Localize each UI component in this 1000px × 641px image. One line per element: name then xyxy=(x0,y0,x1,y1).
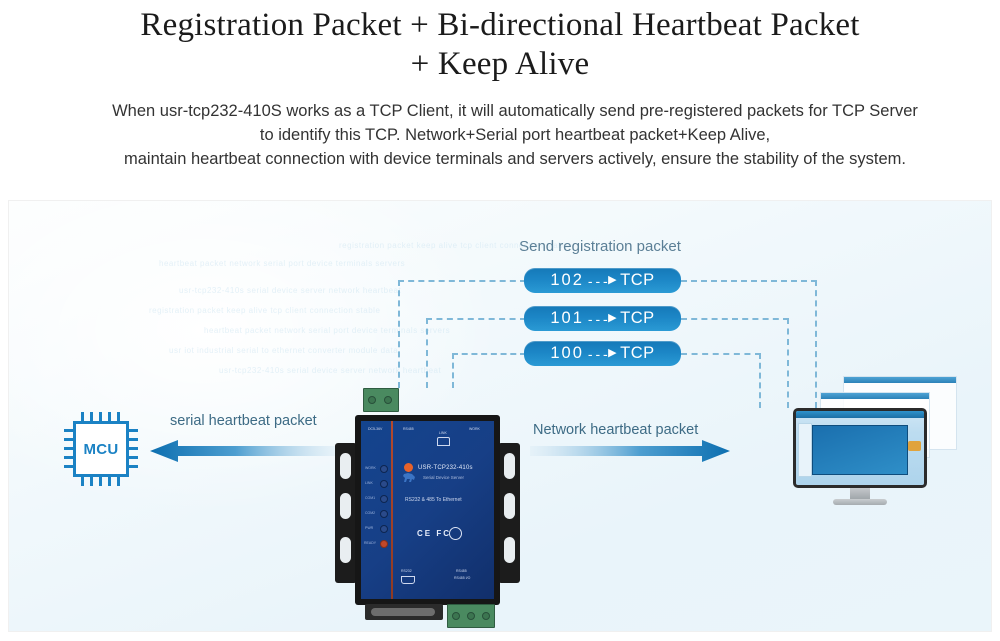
led-label: PWR xyxy=(365,526,373,530)
device-port-label-rs485io: RS485 I/O xyxy=(454,576,470,580)
app-titlebar xyxy=(796,411,924,418)
rs485-terminal-block-bottom xyxy=(447,604,495,628)
packet-id: 100 xyxy=(550,344,584,363)
device-top-label-power: DC5-36V xyxy=(368,427,382,431)
packet-dashes: - - - xyxy=(588,346,607,362)
network-heartbeat-arrow-icon xyxy=(530,440,730,462)
usb-port-icon xyxy=(401,576,415,584)
monitor-bezel xyxy=(793,408,927,488)
packet-dashes: - - - xyxy=(588,273,607,289)
led-label: WORK xyxy=(365,466,376,470)
led-label: LINK xyxy=(365,481,373,485)
packet-protocol: TCP xyxy=(620,309,655,328)
page-title: Registration Packet + Bi-directional Hea… xyxy=(20,6,980,84)
brand-horse-icon xyxy=(402,471,418,483)
page-title-line-2: + Keep Alive xyxy=(20,45,980,84)
app-sidebar xyxy=(798,423,812,477)
serial-heartbeat-packet-label: serial heartbeat packet xyxy=(170,413,317,429)
watermark-text: usr-tcp232-410s serial device server net… xyxy=(219,366,441,375)
led-indicator xyxy=(380,510,388,518)
device-top-label-rs485: RS485 xyxy=(403,427,414,431)
power-terminal-block-top xyxy=(363,388,399,412)
dashed-line-left-101 xyxy=(426,318,526,320)
dashed-line-right-100 xyxy=(681,353,761,355)
packet-id: 102 xyxy=(550,271,584,290)
watermark-text: registration packet keep alive tcp clien… xyxy=(149,306,380,315)
packet-dashes: - - - xyxy=(588,311,607,327)
mcu-label: MCU xyxy=(83,441,118,458)
monitor-base xyxy=(833,499,887,505)
description-line-3: maintain heartbeat connection with devic… xyxy=(20,148,1000,172)
send-registration-packet-label: Send registration packet xyxy=(440,238,760,255)
led-indicator xyxy=(380,495,388,503)
serial-heartbeat-arrow-icon xyxy=(150,440,340,462)
background-window-titlebar xyxy=(821,393,929,399)
device-stripe xyxy=(391,421,393,599)
description-line-2: to identify this TCP. Network+Serial por… xyxy=(20,124,1000,148)
led-indicator xyxy=(380,540,388,548)
serial-device-server[interactable]: DC5-36V RS485 LINK WORK WORK LINK COM1 C… xyxy=(335,385,520,635)
description-line-1: When usr-tcp232-410S works as a TCP Clie… xyxy=(20,100,1000,124)
led-indicator xyxy=(380,480,388,488)
device-subtitle: Serial Device Server xyxy=(423,475,464,480)
dashed-line-right-102-vertical xyxy=(815,280,817,408)
page-title-line-1: Registration Packet + Bi-directional Hea… xyxy=(140,7,859,43)
scada-gauge-icon xyxy=(908,441,921,451)
watermark-text: usr iot industrial serial to ethernet co… xyxy=(169,346,398,355)
mcu-body: MCU xyxy=(73,421,129,477)
dashed-line-right-101 xyxy=(681,318,789,320)
certification-circle-icon xyxy=(449,527,462,540)
device-port-label-rs232: RS232 xyxy=(401,569,412,573)
device-top-label-work: WORK xyxy=(469,427,480,431)
monitor-screen xyxy=(796,411,924,485)
monitor[interactable] xyxy=(793,408,927,508)
device-port-label-rs485: RS485 xyxy=(456,569,467,573)
dashed-line-left-101-vertical xyxy=(426,318,428,388)
packet-id: 101 xyxy=(550,309,584,328)
description: When usr-tcp232-410S works as a TCP Clie… xyxy=(20,100,1000,172)
arrow-right-icon: ▶ xyxy=(608,313,617,324)
packet-badge-101[interactable]: 101 - - - ▶ TCP xyxy=(524,306,681,331)
certification-marks: CE FC xyxy=(417,529,451,538)
packet-badge-102[interactable]: 102 - - - ▶ TCP xyxy=(524,268,681,293)
arrow-right-icon: ▶ xyxy=(608,348,617,359)
watermark-text: heartbeat packet network serial port dev… xyxy=(159,259,405,268)
packet-protocol: TCP xyxy=(620,344,655,363)
packet-protocol: TCP xyxy=(620,271,655,290)
db9-serial-connector xyxy=(365,604,443,620)
device-faceplate: DC5-36V RS485 LINK WORK WORK LINK COM1 C… xyxy=(361,421,494,599)
dashed-line-right-101-vertical xyxy=(787,318,789,408)
device-model: USR-TCP232-410s xyxy=(418,465,473,471)
packet-badge-100[interactable]: 100 - - - ▶ TCP xyxy=(524,341,681,366)
dashed-line-right-100-vertical xyxy=(759,353,761,408)
watermark-text: usr-tcp232-410s serial device server net… xyxy=(179,286,401,295)
watermark-text: heartbeat packet network serial port dev… xyxy=(204,326,450,335)
dashed-line-right-102 xyxy=(681,280,817,282)
device-spec: RS232 & 485 To Ethernet xyxy=(405,497,462,503)
led-indicator xyxy=(380,525,388,533)
header: Registration Packet + Bi-directional Hea… xyxy=(0,0,1000,172)
dashed-line-left-100-vertical xyxy=(452,353,454,388)
device-top-label-link: LINK xyxy=(439,431,447,435)
dashed-line-left-100 xyxy=(452,353,526,355)
led-indicator xyxy=(380,465,388,473)
led-label: COM2 xyxy=(365,511,375,515)
dashed-line-left-102 xyxy=(398,280,526,282)
led-label: COM1 xyxy=(365,496,375,500)
app-scada-view xyxy=(812,425,908,475)
led-label: READY xyxy=(364,541,376,545)
background-window-titlebar xyxy=(844,377,956,383)
ethernet-port-icon xyxy=(437,437,450,446)
arrow-right-icon: ▶ xyxy=(608,275,617,286)
dashed-line-left-102-vertical xyxy=(398,280,400,388)
network-heartbeat-packet-label: Network heartbeat packet xyxy=(533,422,698,438)
mcu-chip-icon: MCU xyxy=(64,412,138,486)
device-body: DC5-36V RS485 LINK WORK WORK LINK COM1 C… xyxy=(355,415,500,605)
